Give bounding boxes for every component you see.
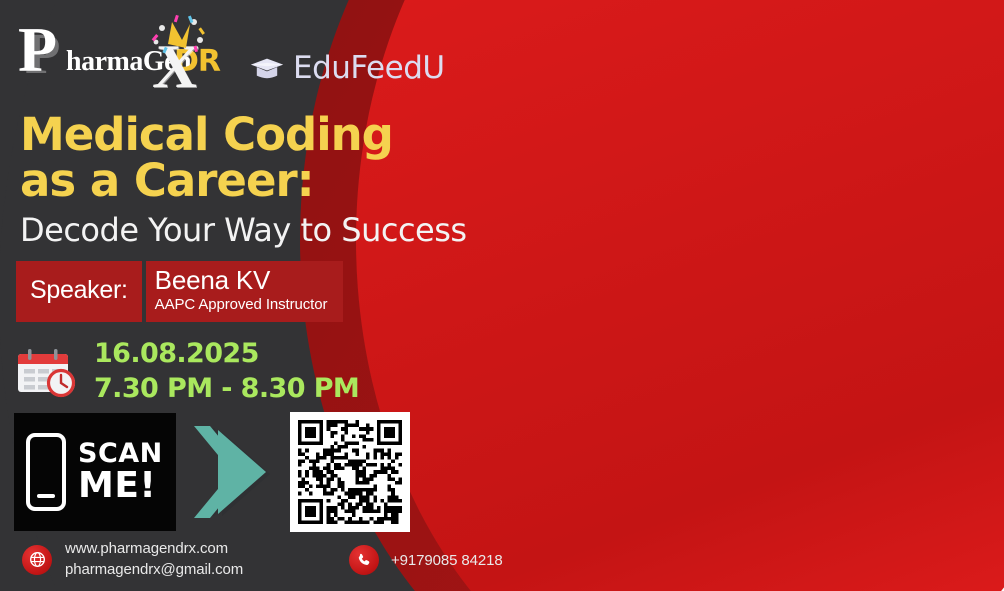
confetti-burst-icon <box>142 14 212 60</box>
scan-line-1: SCAN <box>78 441 163 467</box>
speaker-label: Speaker: <box>16 261 142 322</box>
qr-code[interactable] <box>290 412 410 532</box>
telephone-icon <box>349 545 379 575</box>
edufeedu-wordmark: EduFeedU <box>293 50 445 86</box>
footer-email[interactable]: pharmagendrx@gmail.com <box>65 560 243 581</box>
event-time: 7.30 PM - 8.30 PM <box>94 372 359 407</box>
scan-block: SCAN ME! <box>14 412 410 532</box>
double-chevron-right-icon <box>192 422 274 522</box>
graduation-cap-icon <box>250 55 284 81</box>
speaker-block: Speaker: Beena KV AAPC Approved Instruct… <box>16 261 343 322</box>
speaker-credential: AAPC Approved Instructor <box>155 296 328 314</box>
footer-phone-group[interactable]: +9179085 84218 <box>349 545 503 575</box>
scan-line-2: ME! <box>78 468 163 503</box>
headline-line-2: as a Career: <box>20 158 540 204</box>
event-date: 16.08.2025 <box>94 337 359 372</box>
mobile-phone-icon <box>26 433 66 511</box>
footer-website[interactable]: www.pharmagendrx.com <box>65 539 243 560</box>
headline-subtitle: Decode Your Way to Success <box>20 214 540 248</box>
footer-web-group[interactable]: www.pharmagendrx.com pharmagendrx@gmail.… <box>22 539 243 580</box>
speaker-name: Beena KV <box>155 266 328 296</box>
headline-line-1: Medical Coding <box>20 112 540 158</box>
logo-initial: P <box>18 21 57 79</box>
footer-phone-number[interactable]: +9179085 84218 <box>391 552 503 569</box>
logo-row: P P harmaGen DR X <box>14 12 434 102</box>
webinar-promo-banner: P P harmaGen DR X <box>0 0 1004 591</box>
globe-icon <box>22 545 52 575</box>
pharmagendrx-logo[interactable]: P P harmaGen DR X <box>14 18 214 98</box>
scan-me-badge: SCAN ME! <box>14 413 176 531</box>
calendar-clock-icon <box>14 346 80 398</box>
headline-block: Medical Coding as a Career: Decode Your … <box>20 112 540 247</box>
schedule-block: 16.08.2025 7.30 PM - 8.30 PM <box>14 337 359 406</box>
speaker-details: Beena KV AAPC Approved Instructor <box>146 261 344 322</box>
footer-bar: www.pharmagendrx.com pharmagendrx@gmail.… <box>0 533 1004 591</box>
edufeedu-logo[interactable]: EduFeedU <box>250 50 445 86</box>
